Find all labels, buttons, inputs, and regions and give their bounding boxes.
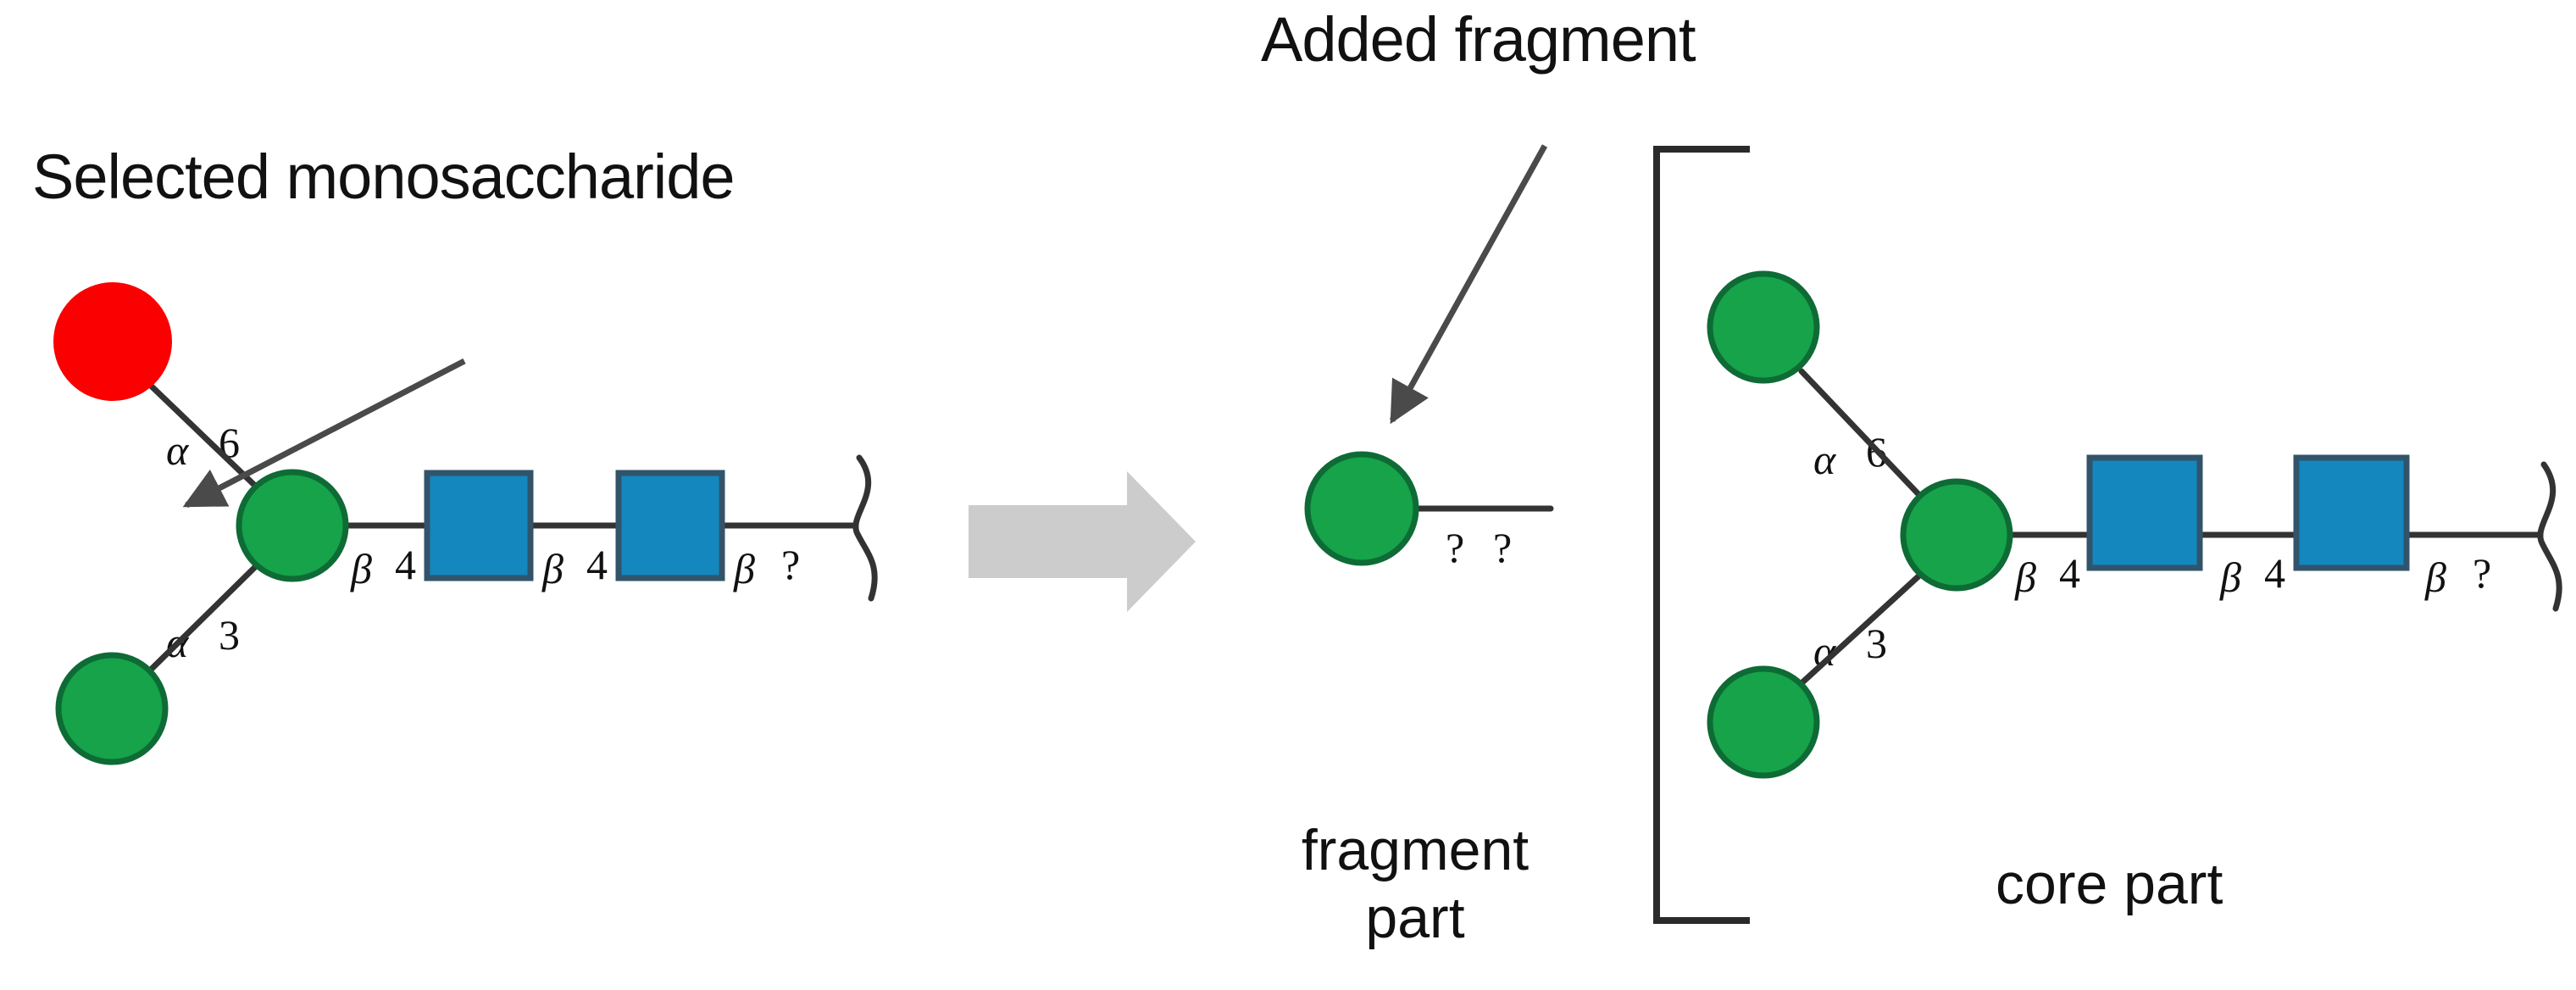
core-linkage-b4a-position: 4: [2059, 551, 2080, 596]
fragment-part-caption-line1: fragment: [1271, 820, 1559, 881]
core-linkage-b4a-anomer: β: [2015, 555, 2036, 600]
left-linkage-a6-anomer: α: [166, 428, 188, 473]
selected-monosaccharide-label: Selected monosaccharide: [32, 144, 735, 210]
core-structure-bonds: [1802, 371, 2540, 683]
node-red-selected-monosaccharide[interactable]: [53, 282, 172, 401]
left-linkage-a6-position: 6: [219, 420, 240, 465]
core-linkage-a6-position: 6: [1866, 430, 1887, 475]
left-linkage-b4a-anomer: β: [351, 547, 372, 592]
node-blue-square-left-1[interactable]: [427, 473, 530, 578]
core-structure-squiggle-terminus: [2540, 464, 2559, 609]
left-linkage-b4a-position: 4: [395, 542, 416, 587]
core-linkage-a3-anomer: α: [1813, 629, 1835, 674]
added-fragment-label: Added fragment: [1261, 7, 1696, 73]
node-blue-square-left-2[interactable]: [619, 473, 722, 578]
transform-arrow-icon: [969, 471, 1196, 612]
left-linkage-bq-position: ?: [781, 542, 800, 587]
core-linkage-bq-position: ?: [2473, 551, 2491, 596]
core-linkage-a3-position: 3: [1866, 621, 1887, 666]
fragment-linkage-anomer: ?: [1446, 526, 1464, 570]
left-linkage-b4b-anomer: β: [542, 547, 563, 592]
fragment-linkage-position: ?: [1493, 526, 1512, 570]
core-linkage-a6-anomer: α: [1813, 437, 1835, 482]
node-green-lower-left[interactable]: [58, 655, 165, 762]
node-green-branch-core[interactable]: [1903, 481, 2010, 588]
left-linkage-b4b-position: 4: [586, 542, 608, 587]
node-green-lower-core[interactable]: [1710, 669, 1817, 776]
node-green-fragment[interactable]: [1307, 454, 1416, 563]
node-green-branch-left[interactable]: [239, 472, 346, 579]
fragment-part-caption-line2: part: [1271, 888, 1559, 948]
node-green-upper-core[interactable]: [1710, 274, 1817, 381]
glycan-diagram-canvas: Selected monosaccharide Added fragment f…: [0, 0, 2576, 990]
core-linkage-b4b-anomer: β: [2220, 555, 2241, 600]
left-structure-squiggle-terminus: [856, 458, 874, 598]
core-linkage-bq-anomer: β: [2425, 555, 2446, 600]
core-part-bracket: [1657, 149, 1750, 920]
core-linkage-b4b-position: 4: [2264, 551, 2285, 596]
node-blue-square-core-1[interactable]: [2090, 458, 2200, 568]
left-linkage-a3-anomer: α: [166, 620, 188, 665]
left-linkage-a3-position: 3: [219, 613, 240, 658]
added-fragment-pointer-arrow: [1392, 146, 1545, 420]
left-structure-bonds: [151, 386, 856, 670]
left-linkage-bq-anomer: β: [734, 547, 755, 592]
node-blue-square-core-2[interactable]: [2296, 458, 2407, 568]
core-part-caption: core part: [1996, 854, 2284, 915]
